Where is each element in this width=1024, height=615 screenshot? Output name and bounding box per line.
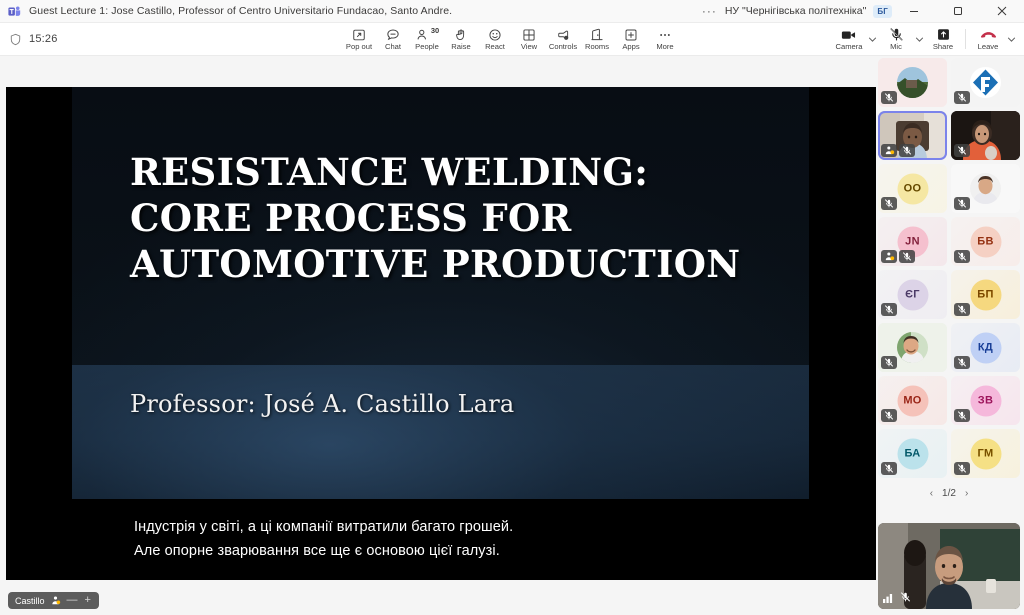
popout-label: Pop out bbox=[346, 43, 372, 51]
apps-plus-icon bbox=[624, 27, 638, 42]
mic-muted-icon bbox=[881, 462, 897, 475]
avatar: БА bbox=[897, 438, 928, 469]
live-captions: Індустрія у світі, а ці компанії витрати… bbox=[72, 517, 809, 562]
meeting-toolbar: 15:26 Pop out Chat bbox=[0, 23, 1024, 56]
close-button[interactable] bbox=[980, 0, 1024, 23]
participant-tile[interactable]: ГМ bbox=[951, 429, 1020, 478]
more-label: More bbox=[656, 43, 673, 51]
avatar: МО bbox=[897, 385, 928, 416]
mic-button[interactable]: Mic bbox=[879, 23, 913, 56]
tile-badges bbox=[954, 303, 970, 316]
react-label: React bbox=[485, 43, 505, 51]
tile-badges bbox=[881, 356, 897, 369]
participant-tile[interactable] bbox=[951, 164, 1020, 213]
people-button[interactable]: 30 People bbox=[410, 23, 444, 56]
tile-badges bbox=[881, 462, 897, 475]
teams-meeting-window: Guest Lecture 1: Jose Castillo, Professo… bbox=[0, 0, 1024, 615]
roster-pagination: ‹ 1/2 › bbox=[878, 483, 1020, 503]
raise-hand-button[interactable]: Raise bbox=[444, 23, 478, 56]
participant-tile[interactable] bbox=[878, 323, 947, 372]
share-button[interactable]: Share bbox=[926, 23, 960, 56]
self-view-badges bbox=[883, 591, 911, 603]
camera-button[interactable]: Camera bbox=[832, 23, 866, 56]
mic-muted-icon bbox=[954, 462, 970, 475]
tile-badges bbox=[881, 303, 897, 316]
avatar: БП bbox=[970, 279, 1001, 310]
mic-chevron-down-icon[interactable] bbox=[913, 23, 926, 56]
rooms-label: Rooms bbox=[585, 43, 609, 51]
apps-label: Apps bbox=[622, 43, 639, 51]
participant-tile[interactable] bbox=[878, 58, 947, 107]
caption-line-1: Індустрія у світі, а ці компанії витрати… bbox=[72, 517, 809, 538]
controls-icon bbox=[556, 27, 570, 42]
window-title: Guest Lecture 1: Jose Castillo, Professo… bbox=[29, 5, 452, 17]
avatar: ОО bbox=[897, 173, 928, 204]
organization-badge: БГ bbox=[873, 5, 892, 18]
participant-tile[interactable] bbox=[951, 58, 1020, 107]
tile-badges bbox=[881, 91, 897, 104]
raise-hand-icon bbox=[454, 27, 468, 42]
chat-icon bbox=[386, 27, 400, 42]
mic-muted-icon bbox=[881, 91, 897, 104]
slide-title: RESISTANCE WELDING: CORE PROCESS FOR AUT… bbox=[130, 149, 750, 287]
self-view-tile[interactable] bbox=[878, 523, 1020, 609]
leave-button[interactable]: Leave bbox=[971, 23, 1005, 56]
presenter-control-pill[interactable]: Castillo — + bbox=[8, 592, 99, 609]
view-label: View bbox=[521, 43, 537, 51]
more-button[interactable]: More bbox=[648, 23, 682, 56]
mic-muted-icon bbox=[954, 91, 970, 104]
participant-tile[interactable]: ОО bbox=[878, 164, 947, 213]
meeting-timer: 15:26 bbox=[29, 33, 58, 45]
tile-badges bbox=[881, 197, 897, 210]
controls-button[interactable]: Controls bbox=[546, 23, 580, 56]
tile-badges bbox=[881, 409, 897, 422]
rooms-icon bbox=[590, 27, 604, 42]
caption-line-2: Але опорне зварювання все ще є основою ц… bbox=[72, 541, 809, 562]
mic-muted-icon bbox=[881, 356, 897, 369]
self-view-mic-muted-icon bbox=[900, 591, 911, 603]
presenting-icon bbox=[881, 250, 897, 263]
tile-badges bbox=[881, 250, 915, 263]
tile-badges bbox=[954, 91, 970, 104]
tile-badges bbox=[954, 462, 970, 475]
avatar: ЗВ bbox=[970, 385, 1001, 416]
toolbar-divider bbox=[965, 29, 966, 49]
people-count: 30 bbox=[431, 26, 439, 35]
pop-out-icon bbox=[352, 27, 366, 42]
react-smiley-icon bbox=[488, 27, 502, 42]
participant-roster: ООJNБВЄГБПКДМОЗВБАГМ ‹ 1/2 › bbox=[878, 58, 1020, 520]
hangup-icon bbox=[980, 27, 997, 42]
participant-tile[interactable]: БА bbox=[878, 429, 947, 478]
tile-badges bbox=[954, 409, 970, 422]
mic-muted-icon bbox=[954, 197, 970, 210]
presenter-name: Castillo bbox=[15, 596, 45, 606]
participant-tile[interactable] bbox=[951, 111, 1020, 160]
teams-icon bbox=[8, 5, 21, 18]
tile-badges bbox=[881, 144, 915, 157]
mic-muted-icon bbox=[899, 144, 915, 157]
mic-muted-icon bbox=[954, 303, 970, 316]
people-icon: 30 bbox=[416, 27, 438, 42]
roster-page-indicator: 1/2 bbox=[942, 488, 956, 499]
leave-label: Leave bbox=[978, 43, 999, 51]
toolbar-right: Camera Mic bbox=[832, 23, 1024, 56]
title-bar-right: ··· НУ "Чернігівська політехніка" БГ bbox=[694, 0, 1024, 23]
mic-muted-icon bbox=[889, 27, 904, 42]
shield-icon bbox=[9, 33, 22, 46]
mic-muted-icon bbox=[954, 356, 970, 369]
participant-tile[interactable]: БП bbox=[951, 270, 1020, 319]
title-bar: Guest Lecture 1: Jose Castillo, Professo… bbox=[0, 0, 1024, 23]
participant-tile[interactable]: БВ bbox=[951, 217, 1020, 266]
avatar: КД bbox=[970, 332, 1001, 363]
tile-badges bbox=[954, 197, 970, 210]
apps-button[interactable]: Apps bbox=[614, 23, 648, 56]
share-screen-icon bbox=[936, 27, 951, 42]
participant-tile[interactable]: КД bbox=[951, 323, 1020, 372]
mic-muted-icon bbox=[881, 197, 897, 210]
roster-next-button[interactable]: › bbox=[965, 488, 968, 499]
chat-label: Chat bbox=[385, 43, 401, 51]
title-overflow-icon[interactable]: ··· bbox=[694, 5, 725, 17]
popout-button[interactable]: Pop out bbox=[342, 23, 376, 56]
mic-muted-icon bbox=[881, 303, 897, 316]
tile-badges bbox=[954, 144, 970, 157]
rooms-button[interactable]: Rooms bbox=[580, 23, 614, 56]
avatar: БВ bbox=[970, 226, 1001, 257]
camera-chevron-down-icon[interactable] bbox=[866, 23, 879, 56]
participant-grid: ООJNБВЄГБПКДМОЗВБАГМ bbox=[878, 58, 1020, 478]
view-button[interactable]: View bbox=[512, 23, 546, 56]
mic-muted-icon bbox=[954, 250, 970, 263]
camera-label: Camera bbox=[835, 43, 862, 51]
signal-bars-icon bbox=[883, 592, 895, 603]
tile-badges bbox=[954, 356, 970, 369]
view-grid-icon bbox=[522, 27, 536, 42]
participant-tile[interactable]: МО bbox=[878, 376, 947, 425]
participant-tile[interactable]: JN bbox=[878, 217, 947, 266]
chat-button[interactable]: Chat bbox=[376, 23, 410, 56]
participant-tile[interactable]: ЄГ bbox=[878, 270, 947, 319]
presentation-slide: RESISTANCE WELDING: CORE PROCESS FOR AUT… bbox=[72, 87, 809, 499]
leave-chevron-down-icon[interactable] bbox=[1005, 23, 1018, 56]
shared-content-stage[interactable]: RESISTANCE WELDING: CORE PROCESS FOR AUT… bbox=[6, 87, 876, 580]
zoom-in-button[interactable]: + bbox=[84, 595, 92, 606]
people-label: People bbox=[415, 43, 439, 51]
mic-muted-icon bbox=[881, 409, 897, 422]
mic-muted-icon bbox=[954, 144, 970, 157]
zoom-out-button[interactable]: — bbox=[66, 595, 79, 606]
mic-label: Mic bbox=[890, 43, 902, 51]
maximize-button[interactable] bbox=[936, 0, 980, 23]
camera-icon bbox=[841, 27, 857, 42]
avatar: ГМ bbox=[970, 438, 1001, 469]
raise-label: Raise bbox=[451, 43, 470, 51]
toolbar-left: 15:26 bbox=[0, 33, 58, 46]
participant-tile[interactable]: ЗВ bbox=[951, 376, 1020, 425]
organization-name: НУ "Чернігівська політехніка" bbox=[725, 5, 866, 17]
presenting-icon bbox=[881, 144, 897, 157]
participant-tile[interactable] bbox=[878, 111, 947, 160]
slide-lower-band bbox=[72, 365, 809, 499]
controls-label: Controls bbox=[549, 43, 577, 51]
more-dots-icon bbox=[658, 27, 672, 42]
roster-prev-button[interactable]: ‹ bbox=[930, 488, 933, 499]
share-label: Share bbox=[933, 43, 953, 51]
avatar: ЄГ bbox=[897, 279, 928, 310]
slide-subtitle: Professor: José A. Castillo Lara bbox=[130, 390, 514, 418]
minimize-button[interactable] bbox=[892, 0, 936, 23]
mic-muted-icon bbox=[954, 409, 970, 422]
presenter-icon bbox=[50, 595, 61, 606]
react-button[interactable]: React bbox=[478, 23, 512, 56]
tile-badges bbox=[954, 250, 970, 263]
mic-muted-icon bbox=[899, 250, 915, 263]
